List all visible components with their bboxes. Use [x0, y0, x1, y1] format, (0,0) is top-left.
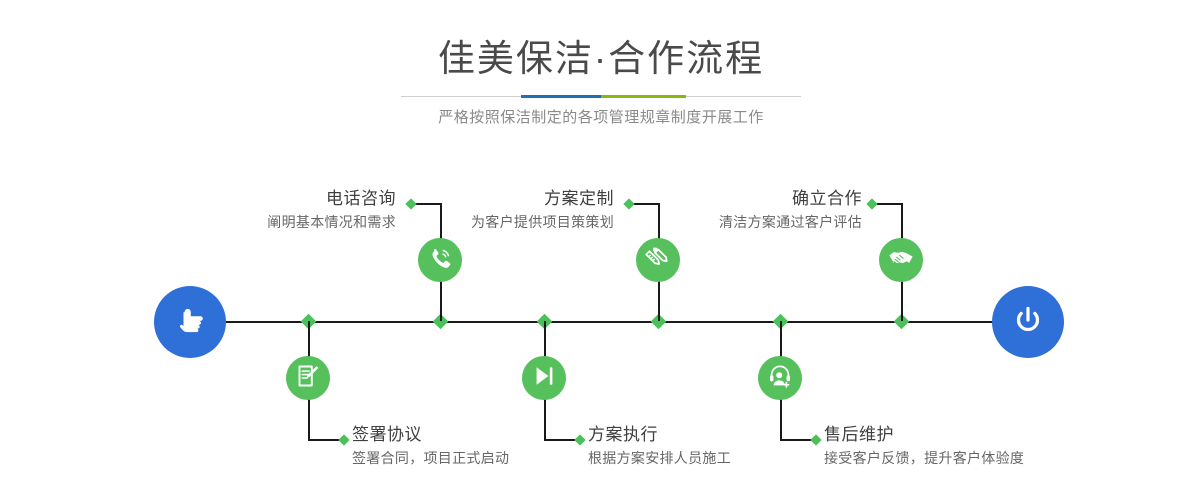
step-text-1: 电话咨询 阐明基本情况和需求 — [160, 188, 396, 233]
branch-hline-6 — [780, 439, 814, 441]
cooperation-process-infographic: 佳美保洁·合作流程 严格按照保洁制定的各项管理规章制度开展工作 — [0, 0, 1202, 502]
step-title-1: 电话咨询 — [160, 188, 396, 210]
branch-marker-5 — [866, 198, 877, 209]
branch-hline-2 — [308, 439, 342, 441]
step-text-3: 方案定制 为客户提供项目策策划 — [440, 188, 614, 233]
title-divider — [401, 95, 801, 98]
step-title-3: 方案定制 — [440, 188, 614, 210]
step-text-4: 方案执行 根据方案安排人员施工 — [588, 424, 731, 469]
step-title-4: 方案执行 — [588, 424, 731, 446]
step-text-2: 签署协议 签署合同，项目正式启动 — [352, 424, 509, 469]
step-title-2: 签署协议 — [352, 424, 509, 446]
phone-call-icon — [426, 244, 454, 277]
step-desc-2: 签署合同，项目正式启动 — [352, 447, 509, 469]
branch-hline-5 — [872, 203, 902, 205]
power-icon — [1009, 301, 1047, 344]
branch-hline-3 — [629, 203, 659, 205]
step-desc-1: 阐明基本情况和需求 — [160, 211, 396, 233]
step-text-5: 确立合作 清洁方案通过客户评估 — [666, 188, 862, 233]
step-desc-3: 为客户提供项目策策划 — [440, 211, 614, 233]
step-desc-6: 接受客户反馈，提升客户体验度 — [824, 447, 1024, 469]
step-icon-2[interactable] — [286, 356, 330, 400]
step-icon-6[interactable] — [758, 356, 802, 400]
play-step-icon — [530, 362, 558, 395]
step-text-6: 售后维护 接受客户反馈，提升客户体验度 — [824, 424, 1024, 469]
branch-marker-2 — [338, 434, 349, 445]
page-title: 佳美保洁·合作流程 — [0, 36, 1202, 82]
customer-service-icon — [766, 362, 794, 395]
branch-hline-1 — [411, 203, 441, 205]
step-icon-4[interactable] — [522, 356, 566, 400]
pointing-hand-icon — [171, 301, 209, 344]
step-icon-5[interactable] — [879, 238, 923, 282]
step-icon-1[interactable] — [418, 238, 462, 282]
timeline-axis — [160, 321, 1040, 323]
step-title-5: 确立合作 — [666, 188, 862, 210]
document-edit-icon — [294, 362, 322, 395]
branch-marker-1 — [405, 198, 416, 209]
page-subtitle: 严格按照保洁制定的各项管理规章制度开展工作 — [0, 106, 1202, 130]
timeline-start-node[interactable] — [154, 286, 226, 358]
step-desc-5: 清洁方案通过客户评估 — [666, 211, 862, 233]
divider-segment-blue — [521, 95, 601, 98]
step-desc-4: 根据方案安排人员施工 — [588, 447, 731, 469]
timeline-end-node[interactable] — [992, 286, 1064, 358]
pencil-ruler-icon — [644, 244, 672, 277]
step-title-6: 售后维护 — [824, 424, 1024, 446]
branch-marker-4 — [574, 434, 585, 445]
branch-marker-3 — [623, 198, 634, 209]
step-icon-3[interactable] — [636, 238, 680, 282]
branch-hline-4 — [544, 439, 578, 441]
branch-marker-6 — [810, 434, 821, 445]
handshake-icon — [887, 244, 915, 277]
divider-segment-green — [601, 95, 686, 98]
